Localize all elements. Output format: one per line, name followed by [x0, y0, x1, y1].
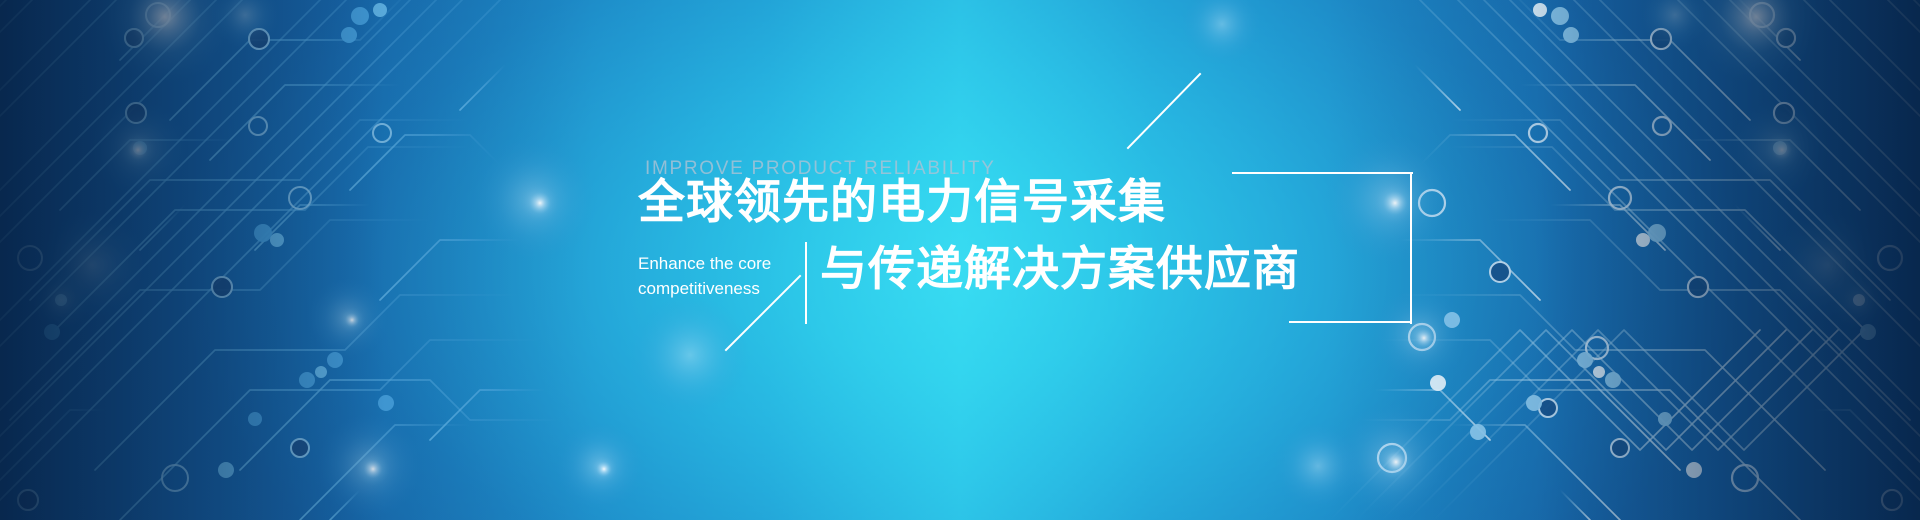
tagline-line-1: Enhance the core — [638, 252, 803, 277]
banner-tagline: Enhance the core competitiveness — [638, 252, 803, 301]
banner-headline-line1: 全球领先的电力信号采集 — [638, 178, 1166, 225]
banner-headline-line2: 与传递解决方案供应商 — [820, 245, 1300, 292]
banner-content: IMPROVE PRODUCT RELIABILITY 全球领先的电力信号采集 … — [0, 0, 1920, 520]
tagline-line-2: competitiveness — [638, 277, 803, 302]
hero-banner: IMPROVE PRODUCT RELIABILITY 全球领先的电力信号采集 … — [0, 0, 1920, 520]
